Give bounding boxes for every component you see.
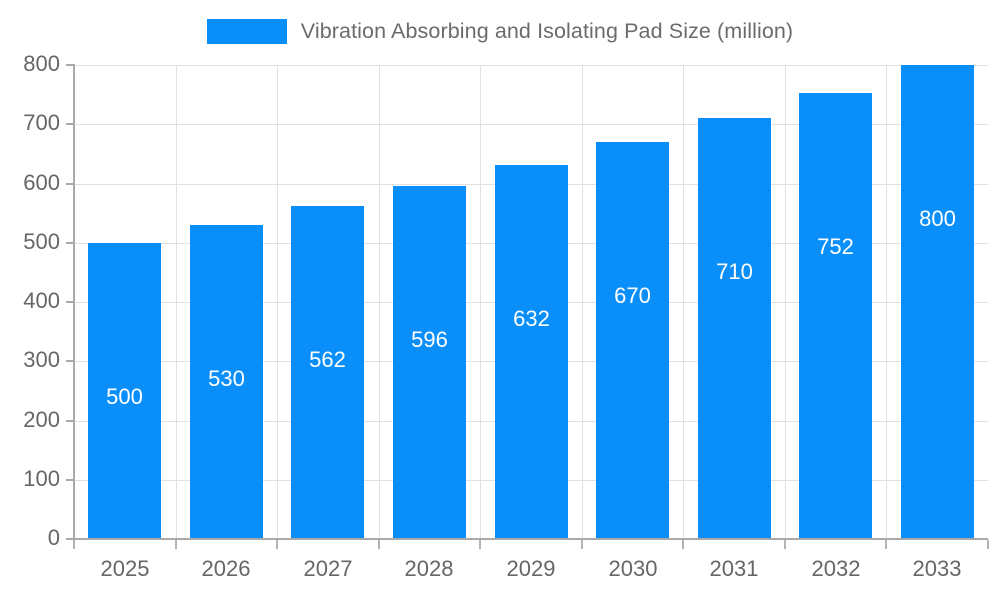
- y-tick-label: 700: [23, 110, 60, 136]
- bar[interactable]: 530: [190, 225, 263, 539]
- x-tick-mark: [581, 540, 583, 549]
- y-tick-label: 600: [23, 170, 60, 196]
- plot-area: 500530562596632670710752800: [74, 65, 988, 539]
- bar[interactable]: 596: [393, 186, 466, 539]
- bar-value-label: 632: [495, 306, 568, 332]
- gridline-vertical: [683, 65, 684, 539]
- bar-value-label: 500: [88, 384, 161, 410]
- x-tick-label: 2031: [710, 556, 759, 582]
- gridline-vertical: [582, 65, 583, 539]
- bar-value-label: 530: [190, 366, 263, 392]
- bar[interactable]: 752: [799, 93, 872, 539]
- gridline-vertical: [480, 65, 481, 539]
- y-axis: 0100200300400500600700800: [0, 65, 74, 539]
- legend-item[interactable]: Vibration Absorbing and Isolating Pad Si…: [207, 19, 793, 44]
- bar-value-label: 562: [291, 347, 364, 373]
- x-tick-label: 2032: [812, 556, 861, 582]
- y-tick-label: 100: [23, 466, 60, 492]
- x-tick-mark: [73, 540, 75, 549]
- gridline-vertical: [379, 65, 380, 539]
- x-tick-mark: [479, 540, 481, 549]
- x-tick-mark: [682, 540, 684, 549]
- x-tick-label: 2027: [304, 556, 353, 582]
- x-tick-label: 2033: [913, 556, 962, 582]
- legend-swatch-icon: [207, 19, 287, 44]
- gridline-vertical: [176, 65, 177, 539]
- x-tick-mark: [175, 540, 177, 549]
- gridline-horizontal: [74, 65, 988, 66]
- x-tick-label: 2028: [405, 556, 454, 582]
- x-tick-mark: [276, 540, 278, 549]
- bar-value-label: 670: [596, 283, 669, 309]
- y-tick-label: 500: [23, 229, 60, 255]
- x-tick-mark: [987, 540, 989, 549]
- y-tick-label: 400: [23, 288, 60, 314]
- x-tick-label: 2030: [609, 556, 658, 582]
- bar[interactable]: 632: [495, 165, 568, 539]
- x-tick-label: 2029: [507, 556, 556, 582]
- bar[interactable]: 670: [596, 142, 669, 539]
- bar-chart: Vibration Absorbing and Isolating Pad Si…: [0, 0, 1000, 600]
- y-tick-label: 800: [23, 51, 60, 77]
- bar[interactable]: 800: [901, 65, 974, 539]
- y-tick-label: 200: [23, 407, 60, 433]
- bar-value-label: 596: [393, 327, 466, 353]
- bar-value-label: 752: [799, 234, 872, 260]
- y-tick-label: 0: [48, 525, 60, 551]
- x-axis: 202520262027202820292030203120322033: [74, 540, 988, 600]
- bar[interactable]: 710: [698, 118, 771, 539]
- x-tick-mark: [885, 540, 887, 549]
- x-tick-mark: [378, 540, 380, 549]
- legend-label: Vibration Absorbing and Isolating Pad Si…: [301, 19, 793, 44]
- x-tick-label: 2025: [101, 556, 150, 582]
- bar[interactable]: 562: [291, 206, 364, 539]
- bar[interactable]: 500: [88, 243, 161, 539]
- x-tick-label: 2026: [202, 556, 251, 582]
- gridline-vertical: [277, 65, 278, 539]
- bar-value-label: 710: [698, 259, 771, 285]
- gridline-vertical: [886, 65, 887, 539]
- y-axis-line: [73, 64, 75, 541]
- gridline-vertical: [785, 65, 786, 539]
- bar-value-label: 800: [901, 206, 974, 232]
- x-tick-mark: [784, 540, 786, 549]
- y-tick-label: 300: [23, 347, 60, 373]
- chart-legend: Vibration Absorbing and Isolating Pad Si…: [0, 10, 1000, 52]
